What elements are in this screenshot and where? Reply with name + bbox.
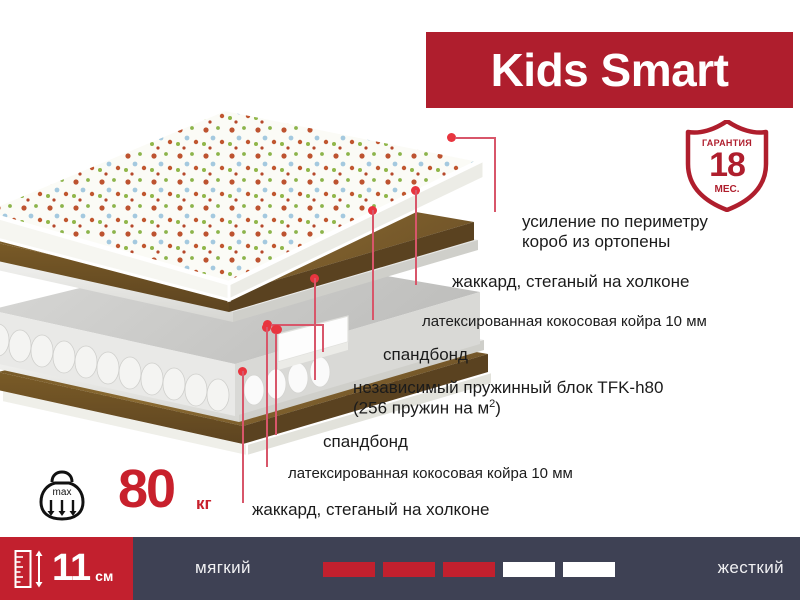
kettlebell-icon: max [36,470,88,522]
height-value: 11 [52,547,90,590]
poster-canvas: Kids Smart ГАРАНТИЯ 18 МЕС. усиление по … [0,0,800,600]
max-weight-value: 80 [118,458,174,520]
annotation-spunbond-top-line-1: спандбонд [383,345,468,365]
page-title: Kids Smart [491,43,729,97]
guarantee-value: 18 [684,146,770,185]
callout-line-spunbond-bottom-v [275,329,277,435]
guarantee-badge: ГАРАНТИЯ 18 МЕС. [684,120,770,212]
firmness-step-3 [443,562,495,577]
callout-line-perimeter-v [494,137,496,212]
annotation-spunbond-top: спандбонд [383,345,468,365]
ruler-icon [14,549,48,589]
annotation-coir-top: латексированная кокосовая койра 10 мм [422,313,707,331]
firmness-step-1 [323,562,375,577]
annotation-jacquard-bottom: жаккард, стеганый на холконе [252,500,489,520]
callout-line-coir-bottom-2-v [266,327,268,467]
guarantee-bottom-label: МЕС. [684,184,770,195]
firmness-step-2 [383,562,435,577]
callout-line-jacquard-top-v [415,190,417,285]
annotation-spunbond-bottom-line-1: спандбонд [323,432,408,452]
annotation-spring-block-line-2: (256 пружин на м2) [353,398,663,419]
callout-dot-coir-bottom [273,325,282,334]
annotation-spring-block: независимый пружинный блок TFK-h80 (256 … [353,378,663,419]
annotation-coir-bottom: латексированная кокосовая койра 10 мм [288,465,573,483]
height-unit: см [95,568,113,584]
firmness-soft-label: мягкий [195,558,251,578]
firmness-hard-label: жесткий [718,558,784,578]
annotation-jacquard-top-line-1: жаккард, стеганый на холконе [452,272,689,292]
annotation-coir-top-line-1: латексированная кокосовая койра 10 мм [422,313,707,331]
bottom-info-bar: 11 см мягкий жесткий [0,537,800,600]
annotation-perimeter-line-2: короб из ортопены [522,232,708,252]
max-weight-unit: кг [196,494,212,514]
annotation-perimeter-line-1: усиление по периметру [522,212,708,232]
max-weight-block: max 80 кг [36,466,226,526]
annotation-jacquard-top: жаккард, стеганый на холконе [452,272,689,292]
mattress-cutaway-illustration [0,72,492,502]
product-title-banner: Kids Smart [426,32,793,108]
callout-line-spring-block-v [314,278,316,380]
callout-line-coir-top-v [372,210,374,320]
callout-line-jacquard-bottom-v [242,371,244,503]
firmness-step-5 [563,562,615,577]
annotation-perimeter: усиление по периметру короб из ортопены [522,212,708,252]
callout-line-spunbond-top-v [322,324,324,352]
height-block: 11 см [0,537,133,600]
annotation-spunbond-bottom: спандбонд [323,432,408,452]
firmness-step-4 [503,562,555,577]
kettlebell-max-label: max [36,487,88,498]
annotation-jacquard-bottom-line-1: жаккард, стеганый на холконе [252,500,489,520]
firmness-scale: мягкий жесткий [133,537,800,600]
callout-line-perimeter-h [455,137,495,139]
mattress-layers-svg [0,72,492,502]
annotation-coir-bottom-line-1: латексированная кокосовая койра 10 мм [288,465,573,483]
annotation-spring-block-line-1: независимый пружинный блок TFK-h80 [353,378,663,398]
